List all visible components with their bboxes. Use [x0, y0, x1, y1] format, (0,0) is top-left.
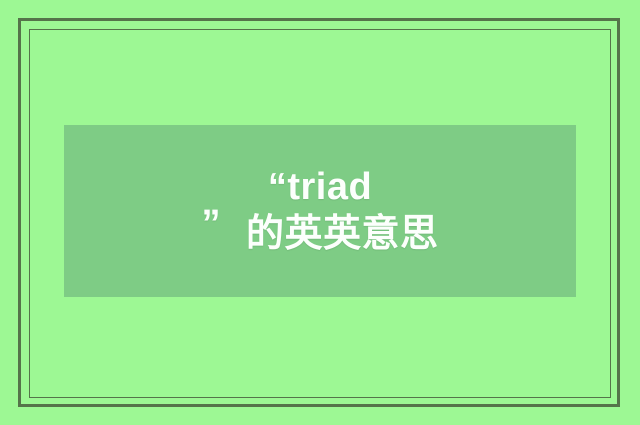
page-canvas: “triad ” 的英英意思 [0, 0, 640, 425]
headline-term: triad [287, 166, 372, 208]
title-banner: “triad ” 的英英意思 [64, 125, 576, 297]
headline-line-1: “triad [201, 167, 438, 208]
banner-headline: “triad ” 的英英意思 [201, 167, 438, 255]
open-quote-mark: “ [268, 166, 288, 208]
headline-line-2: ” 的英英意思 [201, 214, 438, 255]
headline-suffix: 的英英意思 [235, 213, 439, 255]
close-quote-mark: ” [201, 203, 235, 245]
